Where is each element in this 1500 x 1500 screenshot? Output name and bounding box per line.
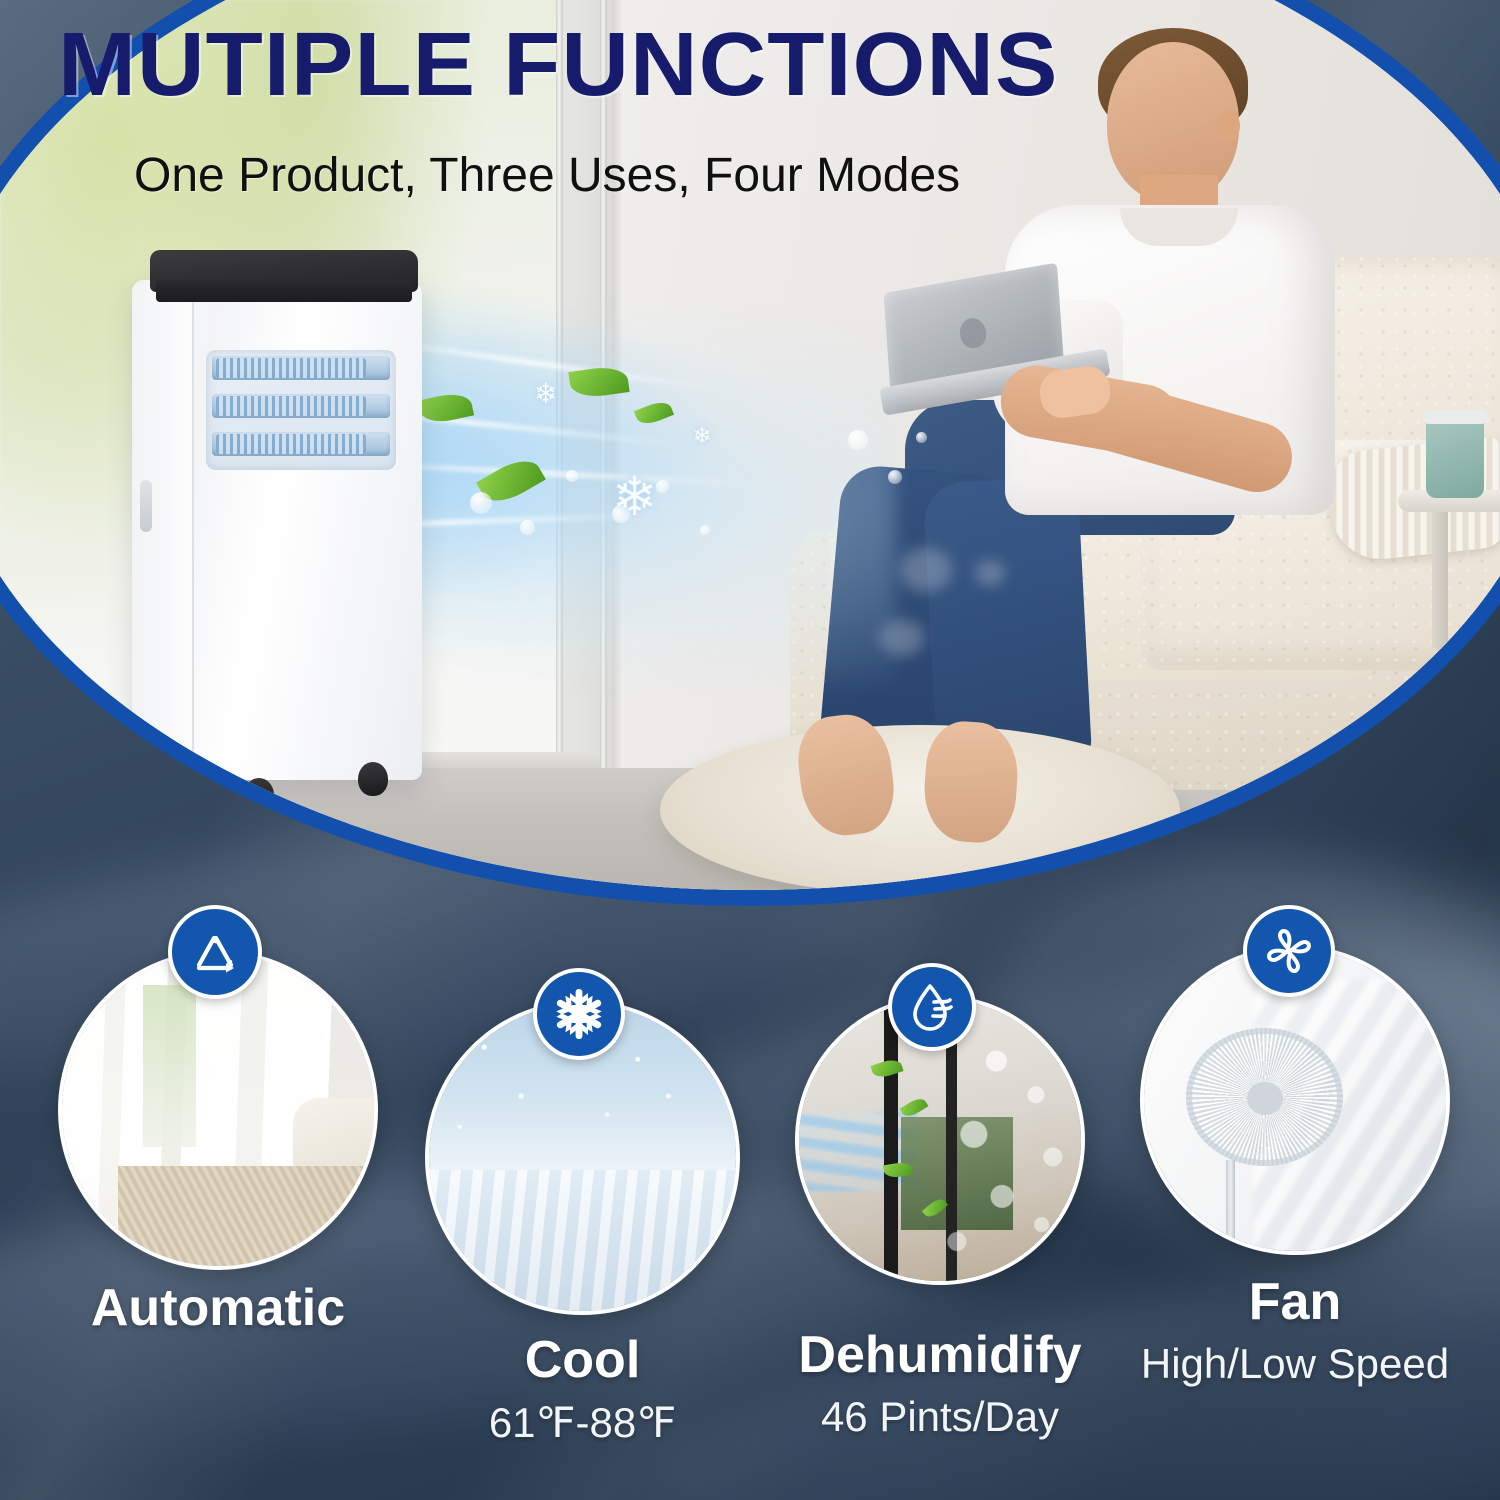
mode-title-cool: Cool <box>425 1330 740 1390</box>
person-ear <box>1216 110 1240 142</box>
snowflake-icon: ❄ <box>693 425 711 447</box>
person-foot <box>921 719 1021 845</box>
side-table-leg <box>1432 508 1448 648</box>
hero-scene-ellipse-frame: ❄ ❄ ❄ <box>0 0 1500 890</box>
mode-title-fan: Fan <box>1140 1272 1450 1332</box>
mode-title-dehumidify: Dehumidify <box>760 1325 1120 1385</box>
snowflake-icon: ❄ <box>534 380 557 408</box>
mode-title-automatic: Automatic <box>58 1278 378 1338</box>
mug <box>1426 418 1484 498</box>
page-subheadline: One Product, Three Uses, Four Modes <box>134 148 960 203</box>
ac-caster-wheel <box>154 768 184 802</box>
mode-subtitle-cool: 61℉-88℉ <box>425 1398 740 1447</box>
ac-seam <box>192 284 194 776</box>
ac-caster-wheel <box>244 778 274 812</box>
ac-control-panel <box>156 280 412 302</box>
hero-scene: ❄ ❄ ❄ <box>0 0 1500 890</box>
mug-lid <box>1422 410 1488 424</box>
ac-air-vent <box>206 350 396 470</box>
water-droplet-icon <box>888 963 976 1051</box>
round-rug <box>660 725 1180 890</box>
mode-subtitle-dehumidify: 46 Pints/Day <box>760 1393 1120 1441</box>
product-feature-poster: ❄ ❄ ❄ <box>0 0 1500 1500</box>
page-headline: MUTIPLE FUNCTIONS <box>58 14 1058 117</box>
fan-blades-icon <box>1243 905 1335 997</box>
snowflake-icon <box>533 968 625 1060</box>
ac-caster-wheel <box>358 762 388 796</box>
snowflake-icon: ❄ <box>612 470 657 524</box>
ac-handle <box>140 480 152 532</box>
portable-air-conditioner <box>132 250 432 810</box>
auto-triangle-arrows-icon <box>168 905 262 999</box>
mode-subtitle-fan: High/Low Speed <box>1120 1340 1470 1388</box>
